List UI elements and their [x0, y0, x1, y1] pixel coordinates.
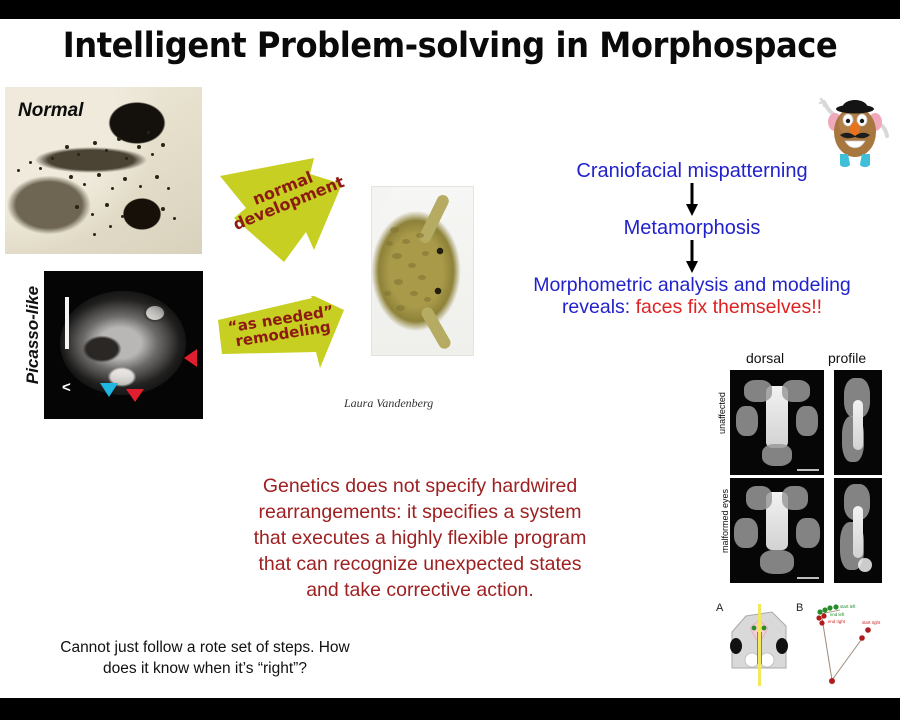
frog-image-credit: Laura Vandenberg [344, 396, 433, 411]
letterbox-top [0, 0, 900, 19]
landmark-tag-start-left: start left [840, 604, 856, 609]
frog-skin-texture [372, 187, 473, 355]
red-arrowhead-icon [126, 389, 144, 402]
normal-development-arrow: normal development [218, 158, 352, 262]
mri-panel-malformed-dorsal [730, 478, 824, 583]
landmark-figure: A B sta [712, 598, 892, 694]
picasso-like-tadpole-image: < [44, 271, 203, 419]
picasso-image-label: Picasso-like [23, 280, 43, 390]
statement-line-3: that executes a highly flexible program [215, 526, 625, 552]
slide-title: Intelligent Problem-solving in Morphospa… [36, 26, 864, 66]
mri-panel-unaffected-dorsal [730, 370, 824, 475]
flow-step-2: Metamorphosis [498, 217, 886, 240]
bottom-note-line-1: Cannot just follow a rote set of steps. … [30, 638, 380, 659]
mri-panel-malformed-profile [834, 478, 882, 583]
mri-column-header-dorsal: dorsal [746, 350, 784, 366]
slide-canvas: Intelligent Problem-solving in Morphospa… [0, 0, 900, 720]
mri-row-header-malformed-eyes: malformed eyes [720, 484, 730, 558]
scale-bar [65, 297, 69, 349]
landmark-tag-start-right: start right [862, 620, 880, 625]
mri-row-header-unaffected: unaffected [717, 381, 727, 445]
flow-reveals-label: reveals: [562, 296, 630, 318]
frog-image [371, 186, 474, 356]
bottom-note: Cannot just follow a rote set of steps. … [30, 638, 380, 680]
flow-step-3: Morphometric analysis and modeling [498, 274, 886, 296]
mri-column-header-profile: profile [828, 350, 866, 366]
statement-line-1: Genetics does not specify hardwired [215, 474, 625, 500]
landmark-tag-end-right: end right [828, 619, 845, 624]
malformed-head-render [60, 291, 186, 395]
caret-marker-icon: < [62, 379, 71, 396]
landmark-tag-end-left: end left [830, 612, 844, 617]
mri-panel-unaffected-profile [834, 370, 882, 475]
statement-line-4: that can recognize unexpected states [215, 552, 625, 578]
cyan-arrowhead-icon [100, 383, 118, 397]
normal-image-label: Normal [18, 100, 83, 122]
flow-arrow-1-icon [498, 183, 886, 217]
flow-emphasis-text: faces fix themselves!! [636, 296, 822, 318]
statement-paragraph: Genetics does not specify hardwired rear… [215, 474, 625, 604]
as-needed-remodeling-arrow: “as needed” remodeling [216, 296, 348, 368]
process-flow: Craniofacial mispatterning Metamorphosis… [498, 160, 886, 319]
statement-line-2: rearrangements: it specifies a system [215, 500, 625, 526]
bottom-note-line-2: does it know when it’s “right”? [30, 659, 380, 680]
mri-figure: dorsal profile unaffected malformed eyes [712, 350, 892, 590]
flow-arrow-2-icon [498, 240, 886, 274]
flow-step-3-reveal: reveals: faces fix themselves!! [498, 296, 886, 318]
letterbox-bottom [0, 698, 900, 720]
statement-line-5: and take corrective action. [215, 578, 625, 604]
red-arrowhead-icon [184, 349, 197, 367]
mr-potato-head-image [818, 88, 892, 172]
